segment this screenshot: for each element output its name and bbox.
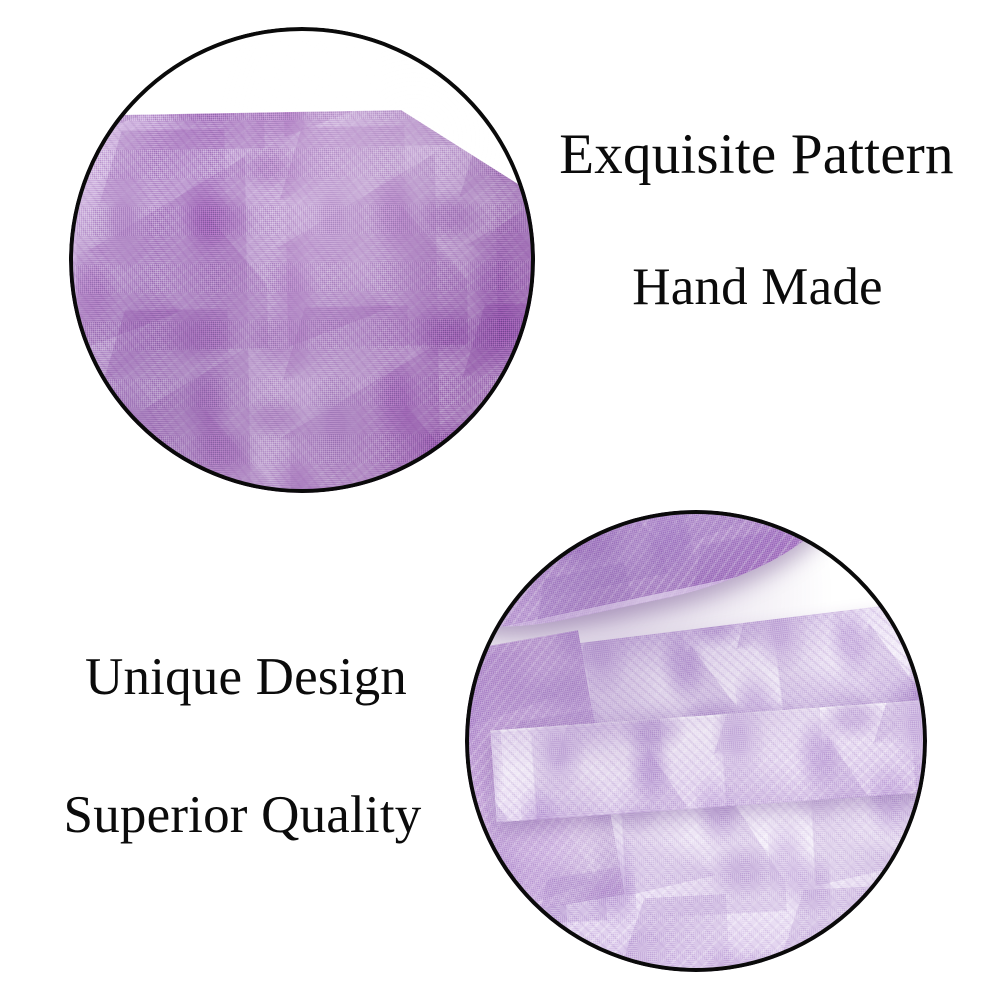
feature-text-unique-design: Unique Design <box>0 651 492 704</box>
feature-text-superior-quality: Superior Quality <box>0 789 485 842</box>
photo-inner-pattern <box>69 27 535 493</box>
product-feature-image: Exquisite Pattern Hand Made Unique Desig… <box>0 0 1000 1000</box>
photo-inner-design <box>465 510 927 972</box>
product-photo-pattern-closeup[interactable] <box>69 27 535 493</box>
fabric-fold-edge-highlight <box>69 100 418 112</box>
product-photo-design-closeup[interactable] <box>465 510 927 972</box>
